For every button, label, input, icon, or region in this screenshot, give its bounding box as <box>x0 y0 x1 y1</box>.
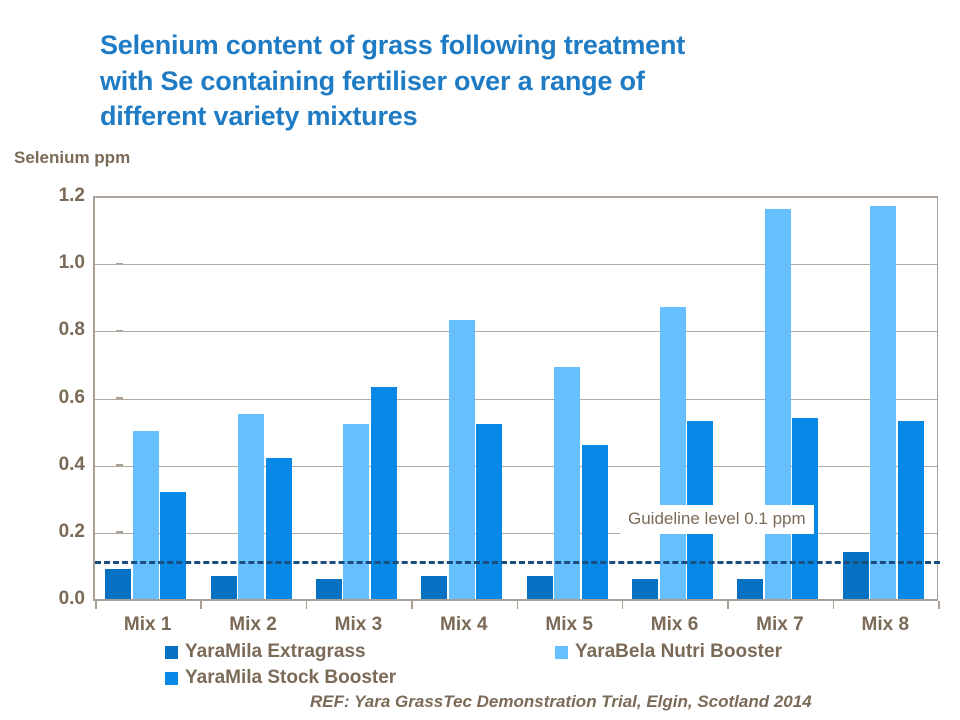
bar <box>843 552 869 599</box>
x-axis-label: Mix 6 <box>651 614 699 636</box>
legend-swatch-icon <box>165 646 178 659</box>
bar <box>632 579 658 599</box>
y-axis-ticks: 0.00.20.40.60.81.01.2 <box>30 0 85 720</box>
bar-group <box>632 196 713 599</box>
legend-swatch-icon <box>555 646 568 659</box>
chart-page: Selenium content of grass following trea… <box>0 0 960 720</box>
x-axis-label: Mix 4 <box>440 614 488 636</box>
bar <box>133 431 159 599</box>
bar-group <box>211 196 292 599</box>
bar <box>870 206 896 599</box>
y-tick-label: 1.0 <box>37 252 85 274</box>
x-tick-mark <box>306 601 308 609</box>
y-tick-label: 0.8 <box>37 319 85 341</box>
x-tick-mark <box>411 601 413 609</box>
footer-reference: REF: Yara GrassTec Demonstration Trial, … <box>310 692 812 712</box>
bar <box>105 569 131 599</box>
x-tick-mark <box>622 601 624 609</box>
bars-layer <box>95 196 938 599</box>
bar <box>737 579 763 599</box>
x-tick-mark <box>938 601 940 609</box>
x-axis-label: Mix 7 <box>756 614 804 636</box>
bar-group <box>737 196 818 599</box>
legend-item[interactable]: YaraBela Nutri Booster <box>555 641 782 663</box>
legend-swatch-icon <box>165 672 178 685</box>
bar <box>421 576 447 600</box>
y-tick-label: 0.6 <box>37 387 85 409</box>
legend-label: YaraBela Nutri Booster <box>575 641 782 663</box>
legend-item[interactable]: YaraMila Stock Booster <box>165 667 396 689</box>
bar <box>765 209 791 599</box>
bar <box>449 320 475 599</box>
bar-group <box>421 196 502 599</box>
x-tick-mark <box>200 601 202 609</box>
x-tick-mark <box>727 601 729 609</box>
bar <box>660 307 686 599</box>
title-line-2: with Se containing fertiliser over a ran… <box>100 64 840 100</box>
x-axis-label: Mix 2 <box>229 614 277 636</box>
legend-item[interactable]: YaraMila Extragrass <box>165 641 366 663</box>
x-tick-mark <box>517 601 519 609</box>
x-tick-mark <box>95 601 97 609</box>
bar <box>238 414 264 599</box>
bar <box>371 387 397 599</box>
legend-label: YaraMila Stock Booster <box>185 667 396 689</box>
bar-group <box>843 196 924 599</box>
page-title: Selenium content of grass following trea… <box>100 28 840 135</box>
y-tick-label: 0.0 <box>37 588 85 610</box>
x-axis-label: Mix 1 <box>124 614 172 636</box>
bar-group <box>316 196 397 599</box>
bar <box>476 424 502 599</box>
guideline-reference-line <box>95 561 940 564</box>
bar <box>527 576 553 600</box>
x-axis-line <box>93 599 938 601</box>
bar <box>266 458 292 599</box>
y-tick-label: 0.4 <box>37 454 85 476</box>
bar <box>316 579 342 599</box>
bar <box>554 367 580 599</box>
y-tick-label: 1.2 <box>37 185 85 207</box>
title-line-1: Selenium content of grass following trea… <box>100 28 840 64</box>
x-axis-label: Mix 8 <box>862 614 910 636</box>
bar <box>211 576 237 600</box>
x-tick-mark <box>833 601 835 609</box>
title-line-3: different variety mixtures <box>100 99 840 135</box>
chart-legend: YaraMila ExtragrassYaraBela Nutri Booste… <box>0 641 960 691</box>
bar <box>160 492 186 599</box>
bar <box>582 445 608 599</box>
x-axis-label: Mix 5 <box>545 614 593 636</box>
bar-group <box>527 196 608 599</box>
bar-group <box>105 196 186 599</box>
y-tick-label: 0.2 <box>37 521 85 543</box>
bar <box>898 421 924 599</box>
guideline-label: Guideline level 0.1 ppm <box>620 505 814 534</box>
bar <box>343 424 369 599</box>
x-axis-label: Mix 3 <box>335 614 383 636</box>
legend-label: YaraMila Extragrass <box>185 641 366 663</box>
